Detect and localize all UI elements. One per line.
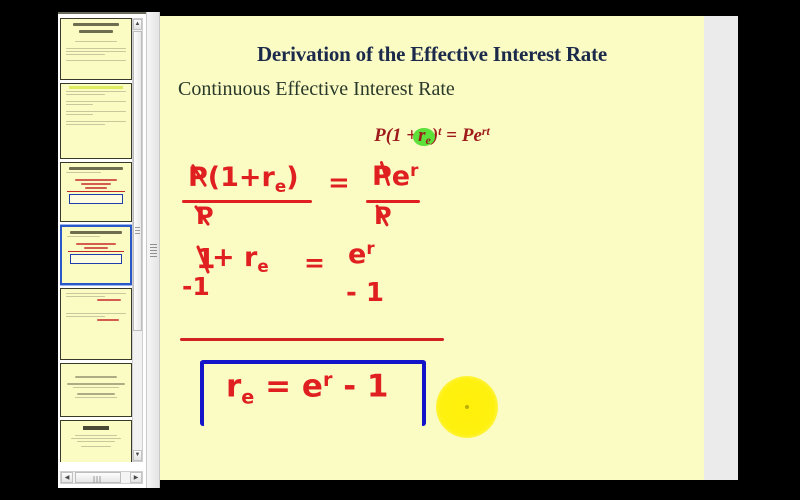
handwritten-red-underline [180, 338, 444, 341]
printed-eq-open-paren: (1 + [386, 125, 417, 146]
thumbnail-slide-2[interactable] [60, 83, 132, 159]
thumb4-title [70, 231, 122, 234]
thumb4-boxed-result [70, 254, 122, 264]
hw-result-exp-r: r [323, 368, 332, 391]
thumb5-line-3 [66, 313, 126, 314]
hw-result-e: e [302, 369, 323, 405]
thumb1-spacer [75, 41, 117, 42]
video-player-viewport: ▲ ▼ ◀ ▶ Derivation of the Effective Inte… [0, 0, 800, 500]
slide-subtitle: Continuous Effective Interest Rate [178, 78, 455, 101]
scroll-right-arrow-icon[interactable]: ▶ [130, 472, 142, 483]
printed-eq-exponent-t: t [438, 124, 441, 138]
hw1-num-left-sub: e [275, 176, 286, 196]
thumb1-body-line-2 [66, 51, 126, 52]
thumb2-highlight [69, 86, 123, 89]
handwritten-line2-e-exp-r: er [348, 238, 375, 270]
hw1-num-right-exp: r [410, 160, 418, 180]
thumb7-quote-line-1 [75, 435, 117, 436]
handwritten-line1-numerator-right: Per [372, 160, 418, 192]
thumb5-line-2 [66, 296, 105, 297]
thumb7-attribution [81, 446, 111, 447]
thumb6-search-link [75, 397, 117, 398]
thumbnail-slide-4-selected[interactable] [60, 225, 132, 285]
thumb3-sub [66, 172, 101, 173]
slide-right-gutter [704, 16, 738, 480]
printed-eq-P-right: P [462, 125, 474, 146]
thumb6-search-by-topic [77, 393, 115, 395]
thumbnail-slide-1[interactable] [60, 18, 132, 80]
thumb7-quote-title [83, 426, 109, 430]
thumb3-eq-2 [81, 183, 111, 185]
highlighted-variable-re: re [417, 125, 432, 148]
thumb1-title-line-1 [73, 23, 119, 26]
thumb3-boxed-result [69, 194, 123, 204]
thumb1-body-line-1 [66, 48, 126, 49]
thumb2-line-6 [66, 114, 93, 115]
thumb4-sub [67, 236, 100, 237]
thumb2-line-7 [66, 121, 126, 122]
thumb2-line-2 [66, 94, 105, 95]
thumbnail-slide-5[interactable] [60, 288, 132, 360]
thumb5-line-1 [66, 293, 126, 294]
printed-equation: P(1 +re)t = Pert [160, 124, 704, 148]
thumb3-title [69, 167, 123, 170]
thumb4-rule [68, 251, 124, 252]
scroll-down-arrow-icon[interactable]: ▼ [133, 450, 142, 461]
thumb3-eq-1 [75, 179, 117, 181]
hw-result-equals: = [265, 369, 291, 405]
page-title: Derivation of the Effective Interest Rat… [160, 42, 704, 67]
sidebar-vertical-scrollbar[interactable]: ▲ ▼ [132, 18, 143, 462]
thumb1-body-line-4 [66, 60, 126, 61]
hw2-plus-re-sub: e [257, 256, 268, 276]
handwritten-result-equation: re = er - 1 [226, 368, 388, 408]
vertical-scroll-thumb[interactable] [133, 31, 142, 331]
thumbnail-strip[interactable] [60, 18, 134, 462]
thumb2-line-5 [66, 111, 126, 112]
thumb7-quote-line-3 [77, 441, 115, 442]
thumb5-line-4 [66, 316, 105, 317]
hw-result-r: r [226, 369, 241, 405]
handwritten-line2-equals: = [304, 248, 325, 277]
thumb2-line-8 [66, 124, 105, 125]
scroll-up-arrow-icon[interactable]: ▲ [133, 19, 142, 30]
handwritten-line1-equals: = [328, 168, 350, 198]
printed-eq-exponent-rt: rt [482, 124, 490, 138]
printed-eq-e: e [473, 125, 481, 146]
cursor-dot-icon [465, 405, 469, 409]
handwritten-line2-minus-one-left: -1 [182, 272, 210, 301]
handwritten-line2-plus-re: + re [212, 242, 269, 276]
thumb1-title-line-2 [79, 30, 113, 33]
thumb5-eq-1 [97, 299, 121, 301]
printed-eq-equals: = [446, 125, 457, 146]
thumbnail-slide-3[interactable] [60, 162, 132, 222]
thumb7-quote-line-2 [71, 438, 121, 439]
printed-eq-r-subscript: e [426, 133, 431, 147]
horizontal-scroll-thumb[interactable] [75, 472, 121, 483]
thumb6-presented-by [75, 376, 117, 378]
cursor-spotlight-highlight [436, 376, 498, 438]
panel-splitter[interactable] [146, 12, 160, 488]
scroll-left-arrow-icon[interactable]: ◀ [61, 472, 73, 483]
thumb2-line-4 [66, 104, 93, 105]
horizontal-scroll-grip-icon [94, 476, 103, 483]
hw2-exp-r: r [366, 238, 374, 258]
thumb6-library [67, 383, 125, 385]
slide-thumbnail-sidebar: ▲ ▼ ◀ ▶ [58, 12, 146, 488]
hw-result-minus-one: - 1 [343, 369, 388, 405]
presentation-slide: Derivation of the Effective Interest Rat… [160, 16, 704, 480]
handwritten-line2-minus-one-right: - 1 [346, 278, 384, 308]
thumb5-eq-2 [97, 319, 119, 321]
printed-eq-P-left: P [374, 125, 386, 146]
sidebar-horizontal-scrollbar[interactable]: ◀ ▶ [60, 471, 143, 484]
thumb3-rule [67, 191, 125, 192]
handwritten-line1-numerator-left: P(1+re) [188, 162, 299, 196]
thumb2-line-3 [66, 101, 126, 102]
thumb4-eq-2 [84, 247, 108, 249]
hw2-plus-re-text: + r [212, 242, 257, 273]
hw2-e: e [348, 239, 366, 270]
thumb4-eq-1 [76, 243, 116, 245]
printed-eq-r: r [418, 125, 425, 146]
hw-result-sub-e: e [241, 385, 254, 408]
thumb2-line-1 [66, 91, 126, 92]
thumb1-body-line-3 [66, 54, 105, 55]
vertical-scroll-grip-icon [135, 227, 140, 236]
thumbnail-slide-6[interactable] [60, 363, 132, 417]
hw1-num-right-e: e [392, 161, 410, 192]
splitter-grip-icon [150, 244, 157, 258]
thumbnail-slide-7[interactable] [60, 420, 132, 462]
thumb3-eq-3 [85, 187, 107, 189]
thumb6-library-link [73, 387, 119, 388]
hw1-num-left-close: ) [286, 162, 298, 193]
